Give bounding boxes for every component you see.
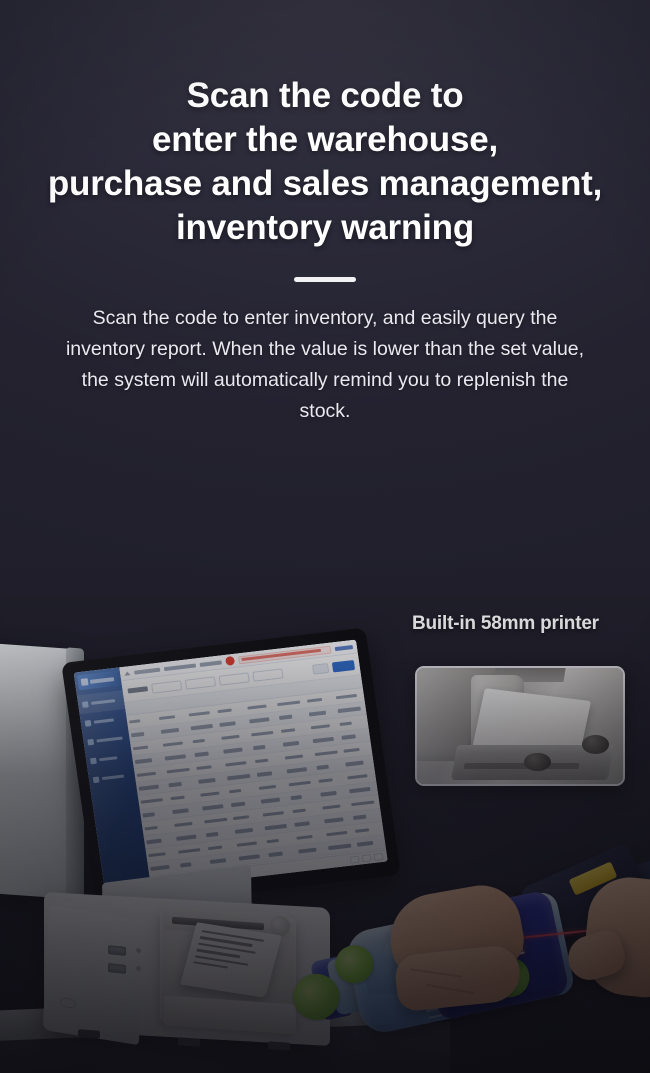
- printed-receipt: [180, 922, 282, 998]
- table-column-header[interactable]: [303, 685, 333, 688]
- filter-search-button[interactable]: [332, 659, 355, 671]
- table-cell: [259, 796, 289, 803]
- table-cell: [164, 767, 194, 774]
- headline-line-3: purchase and sales management,: [8, 162, 642, 206]
- cell-text: [235, 828, 253, 834]
- filter-input-4[interactable]: [252, 668, 283, 681]
- headline-line-2: enter the warehouse,: [8, 118, 642, 162]
- sidebar-label-1: [91, 699, 115, 705]
- cell-text: [205, 832, 218, 837]
- cell-text: [131, 732, 145, 737]
- cell-text: [314, 750, 338, 756]
- cell-text: [159, 715, 176, 720]
- cell-text: [326, 830, 348, 836]
- table-cell: [288, 793, 318, 800]
- cell-text: [203, 817, 227, 823]
- table-cell: [235, 840, 265, 847]
- table-cell: [198, 790, 228, 797]
- table-cell: [203, 830, 233, 837]
- table-cell: [139, 797, 169, 804]
- receipt-line: [193, 961, 228, 969]
- cell-text: [218, 708, 232, 713]
- table-cell: [263, 823, 293, 830]
- page-title: Scan the code to enter the warehouse, pu…: [8, 74, 642, 250]
- table-cell: [249, 730, 279, 737]
- pos-screen[interactable]: [74, 640, 388, 895]
- base-foot: [78, 1029, 100, 1039]
- headline-line-4: inventory warning: [8, 206, 642, 250]
- page-description: Scan the code to enter inventory, and ea…: [55, 303, 595, 427]
- table-cell: [326, 843, 356, 850]
- pos-terminal: [0, 628, 342, 1048]
- topbar-action-link[interactable]: [335, 645, 353, 651]
- cell-text: [281, 728, 296, 733]
- filter-input-2[interactable]: [185, 676, 216, 689]
- cell-text: [316, 765, 329, 770]
- cell-text: [308, 711, 326, 717]
- table-cell: [355, 840, 385, 847]
- cell-text: [141, 798, 163, 804]
- filter-label: [127, 686, 148, 693]
- printer-photo-frame: [415, 666, 625, 786]
- cell-text: [294, 821, 309, 826]
- table-cell: [275, 699, 305, 706]
- table-cell: [284, 766, 314, 773]
- table-cell: [253, 756, 283, 763]
- table-cell: [172, 820, 202, 827]
- cell-text: [268, 852, 282, 857]
- cell-text: [176, 835, 196, 841]
- sidebar-label-4: [99, 756, 117, 762]
- table-cell: [144, 837, 174, 844]
- table-cell: [168, 794, 198, 801]
- cell-text: [338, 707, 361, 713]
- table-cell: [135, 770, 165, 777]
- table-cell: [192, 750, 222, 757]
- cell-text: [139, 785, 160, 791]
- cell-text: [312, 737, 334, 743]
- cell-text: [178, 848, 200, 854]
- cell-text: [344, 747, 360, 752]
- table-cell: [218, 720, 248, 727]
- cell-text: [259, 784, 276, 789]
- cell-text: [257, 771, 273, 776]
- table-cell: [133, 757, 163, 764]
- filter-spacer: [287, 670, 309, 673]
- table-cell: [142, 824, 172, 831]
- alert-badge-icon: [225, 656, 235, 666]
- filter-input-1[interactable]: [151, 680, 182, 693]
- sidebar-icon-2: [85, 720, 92, 727]
- table-cell: [282, 753, 312, 760]
- table-cell: [216, 706, 246, 713]
- cell-text: [298, 848, 317, 854]
- cell-text: [233, 815, 249, 820]
- table-cell: [188, 723, 218, 730]
- table-cell: [157, 713, 187, 720]
- sidebar-label-3: [96, 736, 122, 742]
- base-indicator-1: [136, 948, 141, 954]
- cell-text: [283, 741, 300, 746]
- cell-text: [249, 717, 270, 723]
- cell-text: [198, 778, 216, 784]
- table-cell: [137, 784, 167, 791]
- table-cell: [334, 693, 364, 700]
- logo-wordmark: [90, 677, 114, 684]
- cell-text: [220, 721, 236, 726]
- cell-text: [164, 754, 186, 760]
- cell-text: [137, 771, 156, 777]
- cell-text: [194, 752, 209, 757]
- cell-text: [251, 730, 273, 736]
- cell-text: [150, 865, 169, 871]
- table-cell: [227, 787, 257, 794]
- cell-text: [355, 828, 370, 833]
- cell-text: [349, 787, 370, 793]
- table-cell: [174, 834, 204, 841]
- cell-text: [255, 758, 269, 763]
- title-divider: [294, 277, 356, 282]
- cell-text: [207, 845, 222, 850]
- printer-callout-label: Built-in 58mm printer: [412, 613, 599, 635]
- table-cell: [200, 803, 230, 810]
- promo-page: Scan the code to enter the warehouse, pu…: [0, 0, 650, 1073]
- table-cell: [176, 847, 206, 854]
- table-cell: [158, 727, 188, 734]
- cell-text: [188, 711, 209, 717]
- sidebar-icon-1: [82, 701, 89, 708]
- table-cell: [233, 827, 263, 834]
- cell-text: [180, 862, 192, 867]
- table-cell: [314, 763, 344, 770]
- table-cell: [229, 800, 259, 807]
- app-logo: [77, 671, 119, 691]
- table-cell: [231, 813, 261, 820]
- cell-text: [266, 838, 278, 843]
- table-cell: [344, 759, 374, 766]
- table-cell: [166, 780, 196, 787]
- pos-base-left-face: [43, 905, 146, 1045]
- table-cell: [220, 733, 250, 740]
- table-cell: [146, 850, 176, 857]
- table-cell: [304, 696, 334, 703]
- cell-text: [261, 798, 280, 804]
- table-cell: [310, 736, 340, 743]
- table-cell: [131, 744, 161, 751]
- cell-text: [347, 774, 367, 780]
- table-cell: [221, 747, 251, 754]
- table-cell: [251, 743, 281, 750]
- cell-text: [166, 767, 190, 773]
- table-cell: [170, 807, 200, 814]
- sidebar-label-5: [102, 774, 124, 780]
- cell-text: [322, 804, 340, 810]
- table-cell: [160, 740, 190, 747]
- cell-text: [231, 802, 245, 807]
- cell-text: [310, 724, 330, 730]
- breadcrumb-item-2[interactable]: [164, 663, 196, 671]
- cell-text: [342, 734, 356, 739]
- table-cell: [347, 786, 377, 793]
- table-cell: [353, 826, 383, 833]
- cell-text: [351, 800, 374, 806]
- base-foot: [178, 1037, 200, 1047]
- pagination-prev-button[interactable]: [350, 856, 360, 864]
- cell-text: [340, 721, 353, 726]
- table-cell: [202, 817, 232, 824]
- table-column-header[interactable]: [184, 699, 214, 702]
- cell-text: [144, 825, 158, 830]
- cell-text: [229, 788, 242, 793]
- table-cell: [308, 723, 338, 730]
- table-cell: [194, 763, 224, 770]
- table-cell: [351, 813, 381, 820]
- cell-text: [353, 815, 366, 820]
- cell-text: [170, 795, 185, 800]
- table-cell: [255, 770, 285, 777]
- base-foot: [268, 1041, 290, 1051]
- table-cell: [296, 846, 326, 853]
- cell-text: [306, 697, 322, 702]
- base-indicator-2: [136, 966, 141, 972]
- table-cell: [127, 717, 157, 724]
- sidebar-item-5[interactable]: [88, 765, 136, 789]
- table-cell: [190, 737, 220, 744]
- table-cell: [162, 753, 192, 760]
- printer-photo: [417, 668, 623, 784]
- cell-text: [318, 778, 333, 783]
- inventory-app: [74, 640, 388, 895]
- logo-mark-icon: [81, 678, 89, 686]
- table-cell: [178, 860, 208, 867]
- cell-text: [296, 834, 313, 839]
- table-cell: [294, 833, 324, 840]
- table-cell: [261, 810, 291, 817]
- cell-text: [286, 767, 306, 773]
- table-cell: [324, 830, 354, 837]
- table-cell: [186, 710, 216, 717]
- table-cell: [318, 790, 348, 797]
- table-cell: [279, 726, 309, 733]
- cell-text: [190, 724, 213, 730]
- table-cell: [342, 746, 372, 753]
- table-cell: [338, 719, 368, 726]
- table-cell: [345, 773, 375, 780]
- table-cell: [290, 806, 320, 813]
- table-cell: [266, 850, 296, 857]
- sidebar-icon-5: [93, 776, 100, 783]
- table-cell: [247, 716, 277, 723]
- filter-input-3[interactable]: [219, 672, 250, 685]
- cell-text: [225, 761, 246, 767]
- table-cell: [245, 703, 275, 710]
- table-cell: [223, 760, 253, 767]
- cell-text: [290, 795, 302, 800]
- table-cell: [196, 777, 226, 784]
- cell-text: [133, 745, 148, 750]
- cell-text: [328, 844, 352, 850]
- cell-text: [202, 804, 224, 810]
- table-cell: [340, 733, 370, 740]
- cell-text: [237, 841, 257, 847]
- cell-text: [168, 782, 181, 787]
- cell-text: [148, 852, 165, 857]
- table-body: [126, 688, 386, 876]
- cell-text: [357, 841, 373, 846]
- table-cell: [140, 810, 170, 817]
- headline-line-1: Scan the code to: [8, 74, 642, 118]
- breadcrumb-item-3[interactable]: [199, 660, 221, 667]
- cell-text: [320, 791, 337, 796]
- cell-text: [174, 821, 193, 827]
- cell-text: [346, 761, 364, 767]
- sidebar-icon-4: [90, 757, 97, 764]
- pagination-next-button[interactable]: [374, 853, 384, 861]
- cell-text: [162, 741, 182, 747]
- table-column-header[interactable]: [155, 702, 185, 705]
- filter-reset-button[interactable]: [312, 663, 329, 675]
- photo-sheen: [417, 668, 623, 784]
- scanning-scene: [318, 872, 650, 1073]
- sidebar-icon-3: [87, 738, 94, 745]
- cell-text: [146, 839, 162, 844]
- cell-text: [253, 745, 265, 750]
- table-cell: [264, 837, 294, 844]
- cell-text: [279, 715, 292, 720]
- pagination-page-1[interactable]: [362, 854, 372, 862]
- table-column-header[interactable]: [332, 681, 362, 684]
- usb-port-1: [108, 945, 126, 956]
- cell-text: [209, 858, 226, 863]
- cell-text: [222, 734, 240, 739]
- cell-text: [192, 738, 205, 743]
- cell-text: [142, 812, 154, 817]
- table-cell: [336, 706, 366, 713]
- table-column-header[interactable]: [273, 688, 303, 691]
- table-cell: [148, 864, 178, 871]
- table-cell: [316, 776, 346, 783]
- table-column-header[interactable]: [125, 705, 155, 708]
- inventory-table: [124, 675, 386, 877]
- app-main: [119, 640, 387, 889]
- table-cell: [312, 749, 342, 756]
- table-cell: [205, 844, 235, 851]
- cell-text: [223, 748, 242, 754]
- table-cell: [292, 820, 322, 827]
- table-cell: [277, 713, 307, 720]
- table-cell: [281, 740, 311, 747]
- cell-text: [336, 693, 357, 699]
- sidebar-label-2: [94, 718, 114, 724]
- cell-text: [172, 808, 189, 813]
- table-cell: [306, 709, 336, 716]
- cell-text: [277, 700, 301, 706]
- cell-text: [292, 808, 306, 813]
- table-cell: [286, 780, 316, 787]
- cell-text: [160, 728, 178, 734]
- table-cell: [349, 799, 379, 806]
- table-cell: [320, 803, 350, 810]
- cell-text: [265, 824, 288, 830]
- table-cell: [237, 853, 267, 860]
- cell-text: [324, 817, 344, 823]
- cell-text: [200, 791, 220, 797]
- table-column-header[interactable]: [214, 695, 244, 698]
- cell-text: [263, 811, 284, 817]
- cell-text: [196, 765, 212, 770]
- cell-text: [239, 854, 260, 860]
- table-cell: [225, 773, 255, 780]
- table-cell: [129, 730, 159, 737]
- cell-text: [284, 754, 303, 760]
- cell-text: [129, 719, 141, 724]
- cell-text: [135, 758, 152, 763]
- table-column-header[interactable]: [244, 692, 274, 695]
- table-cell: [257, 783, 287, 790]
- breadcrumb-chevron-icon: [124, 671, 131, 676]
- table-cell: [322, 816, 352, 823]
- cell-text: [247, 704, 266, 710]
- cell-text: [288, 780, 310, 786]
- usb-port-2: [108, 963, 126, 974]
- breadcrumb-item-1[interactable]: [134, 667, 160, 674]
- table-cell: [207, 857, 237, 864]
- cell-text: [227, 774, 250, 780]
